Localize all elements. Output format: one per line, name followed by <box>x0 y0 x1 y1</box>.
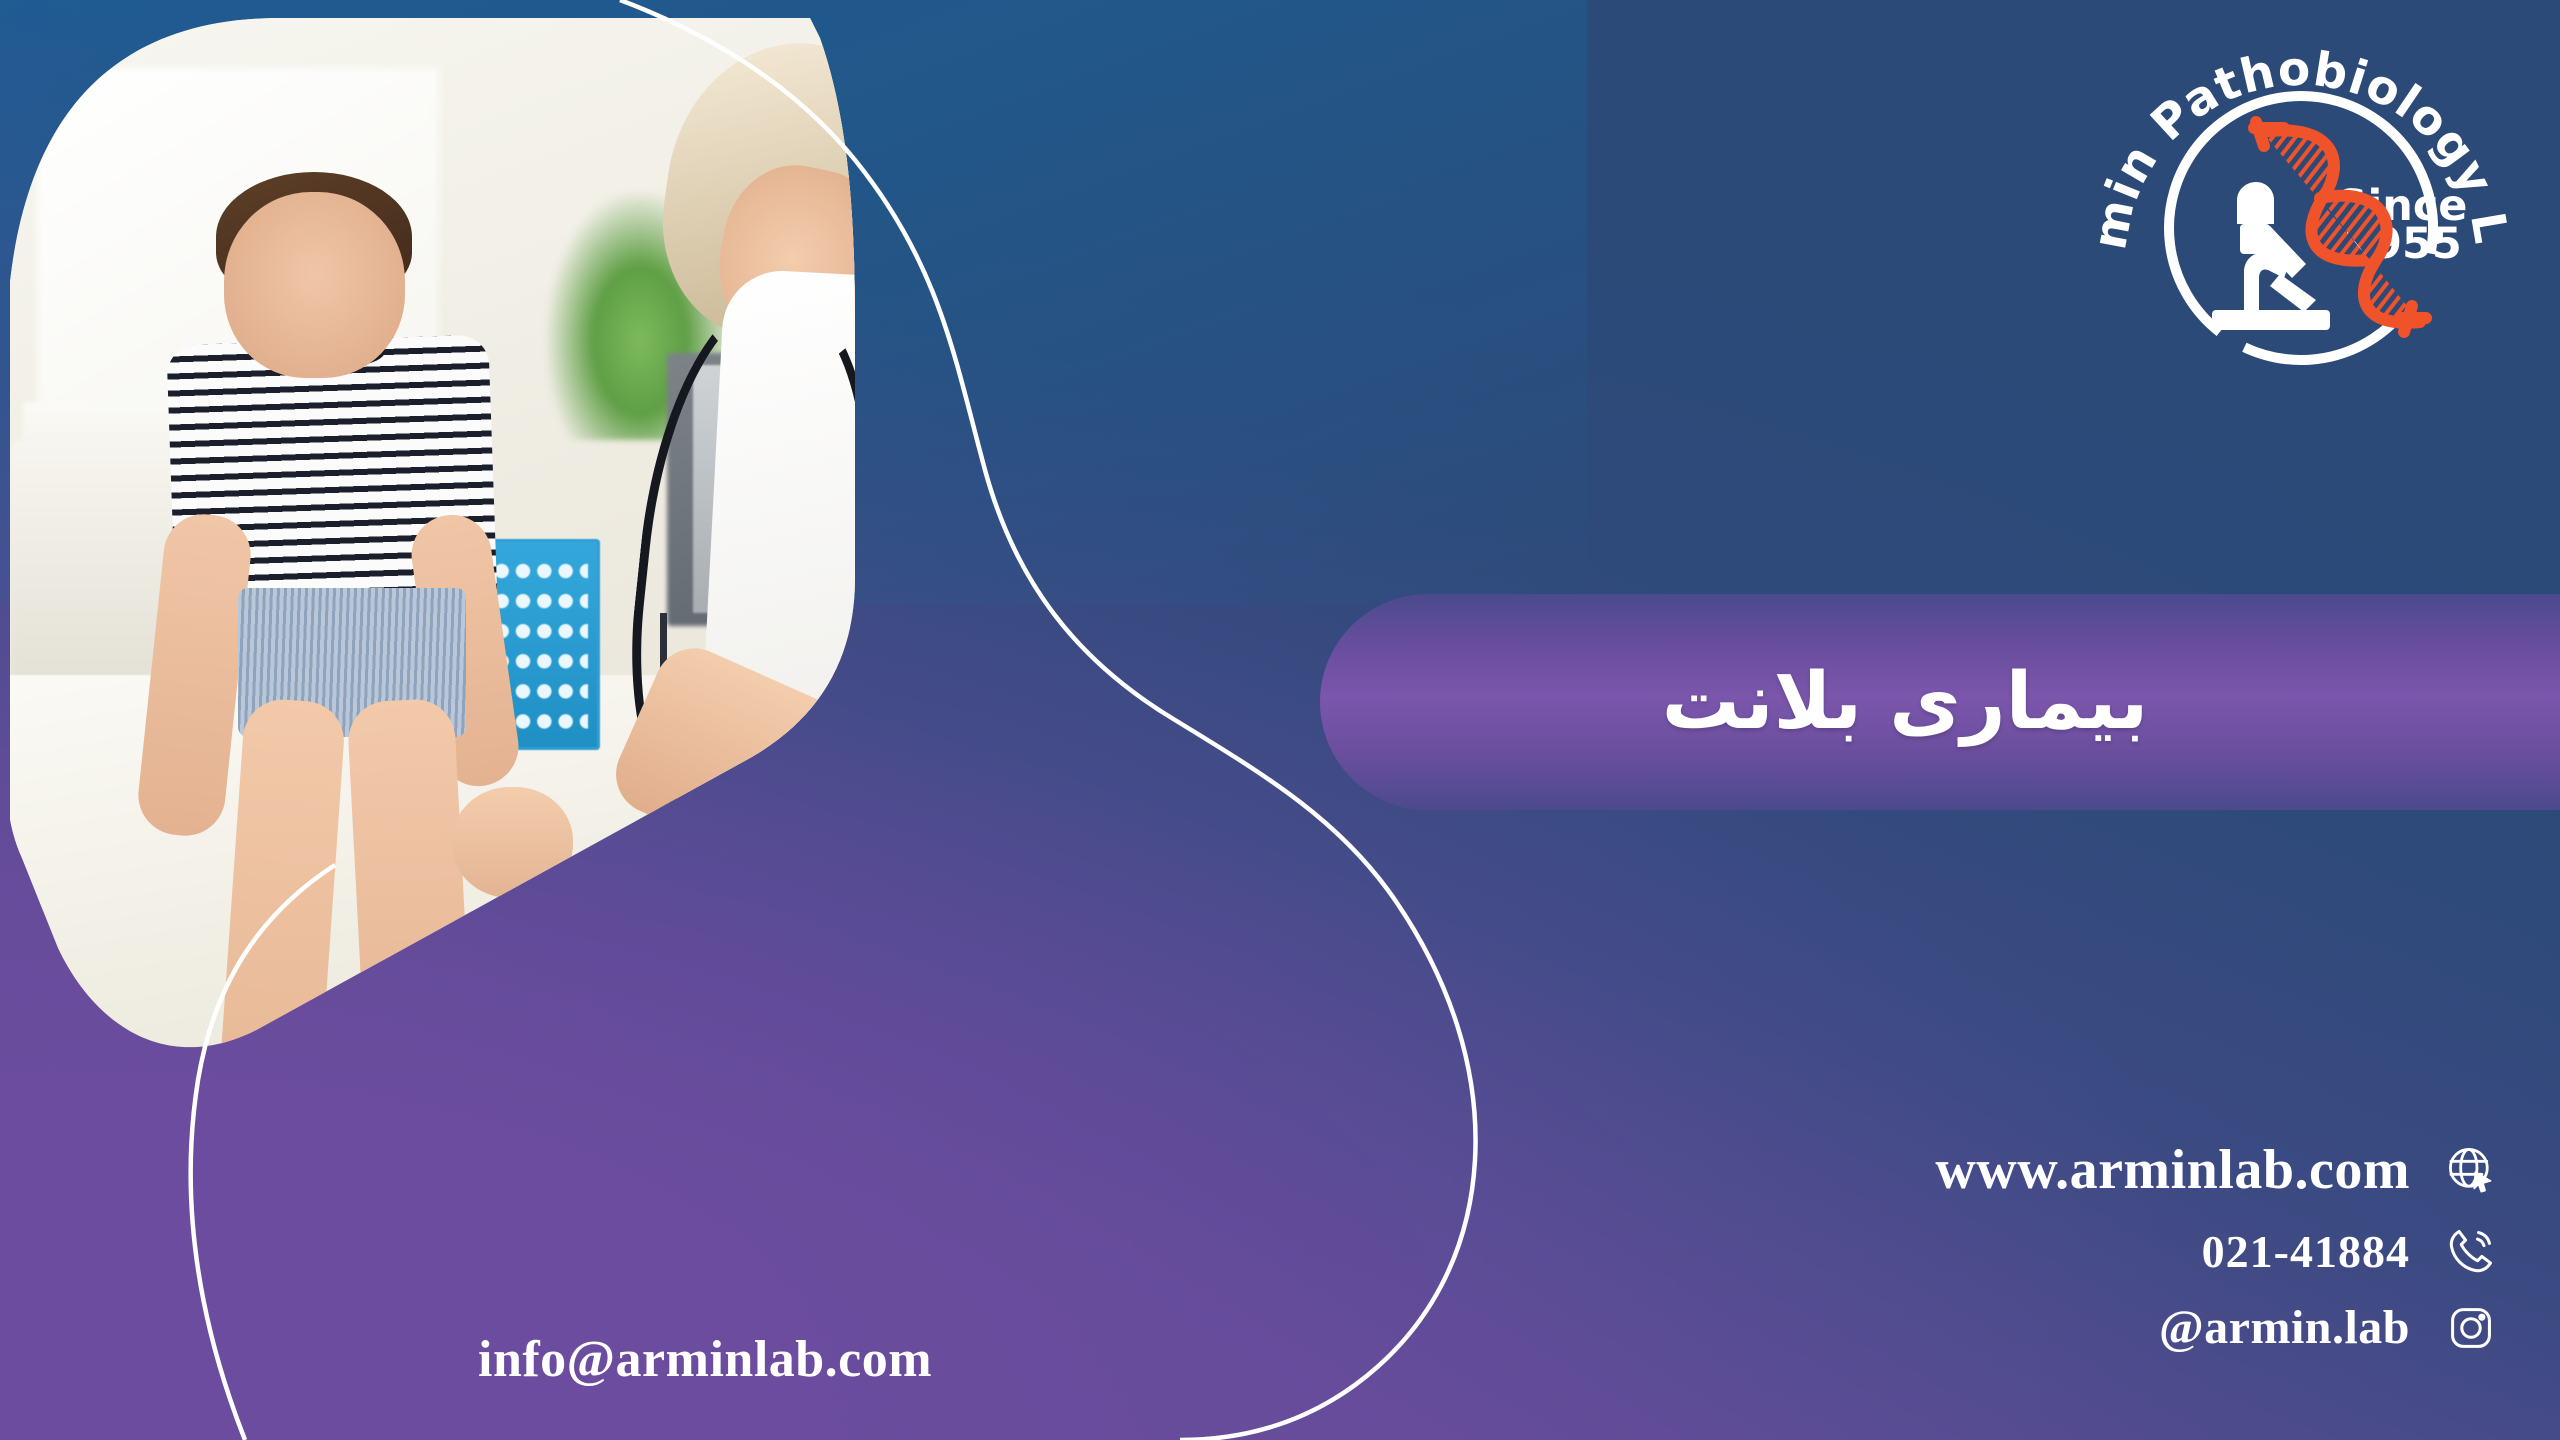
email-label: info@arminlab.com <box>478 1330 932 1389</box>
globe-cursor-icon <box>2444 1143 2498 1197</box>
contact-row-website[interactable]: www.arminlab.com <box>1678 1138 2498 1202</box>
microscope-icon <box>2212 182 2330 330</box>
page-title: بیماری بلانت <box>1662 663 2149 741</box>
phone-call-icon <box>2444 1224 2498 1278</box>
logo-graphic: Armin Pathobiology Lab Since 1955 <box>2084 10 2514 440</box>
poster-canvas: Armin Pathobiology Lab Since 1955 <box>0 0 2560 1440</box>
contact-block: www.arminlab.com 021-41884 <box>1678 1138 2498 1377</box>
phone-label: 021-41884 <box>2202 1225 2410 1278</box>
photo-boy-head <box>224 192 405 378</box>
contact-row-phone[interactable]: 021-41884 <box>1678 1224 2498 1278</box>
brand-logo: Armin Pathobiology Lab Since 1955 <box>2084 10 2514 440</box>
contact-row-instagram[interactable]: @armin.lab <box>1678 1300 2498 1355</box>
instagram-icon <box>2444 1301 2498 1355</box>
title-banner: بیماری بلانت <box>1320 594 2560 810</box>
website-label: www.arminlab.com <box>1935 1138 2410 1202</box>
instagram-label: @armin.lab <box>2159 1300 2410 1355</box>
